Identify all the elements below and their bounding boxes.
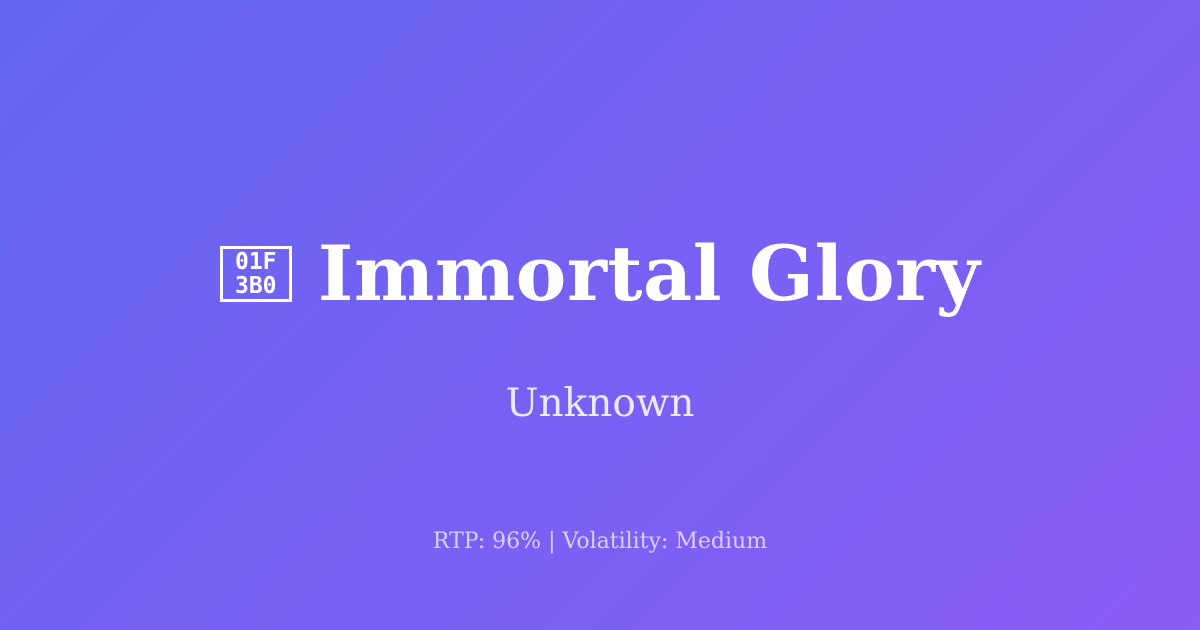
title-row: 01F 3B0 Immortal Glory <box>220 222 980 326</box>
page-title: Immortal Glory <box>318 234 980 313</box>
tofu-codepoint-row-top: 01F <box>235 250 277 274</box>
subtitle: Unknown <box>506 381 695 428</box>
slot-machine-icon: 01F 3B0 <box>220 246 292 302</box>
og-share-card: 01F 3B0 Immortal Glory Unknown RTP: 96% … <box>0 0 1200 630</box>
hero-block: 01F 3B0 Immortal Glory Unknown <box>0 222 1200 428</box>
game-meta-line: RTP: 96% | Volatility: Medium <box>0 529 1200 555</box>
tofu-codepoint-row-bottom: 3B0 <box>235 274 277 298</box>
